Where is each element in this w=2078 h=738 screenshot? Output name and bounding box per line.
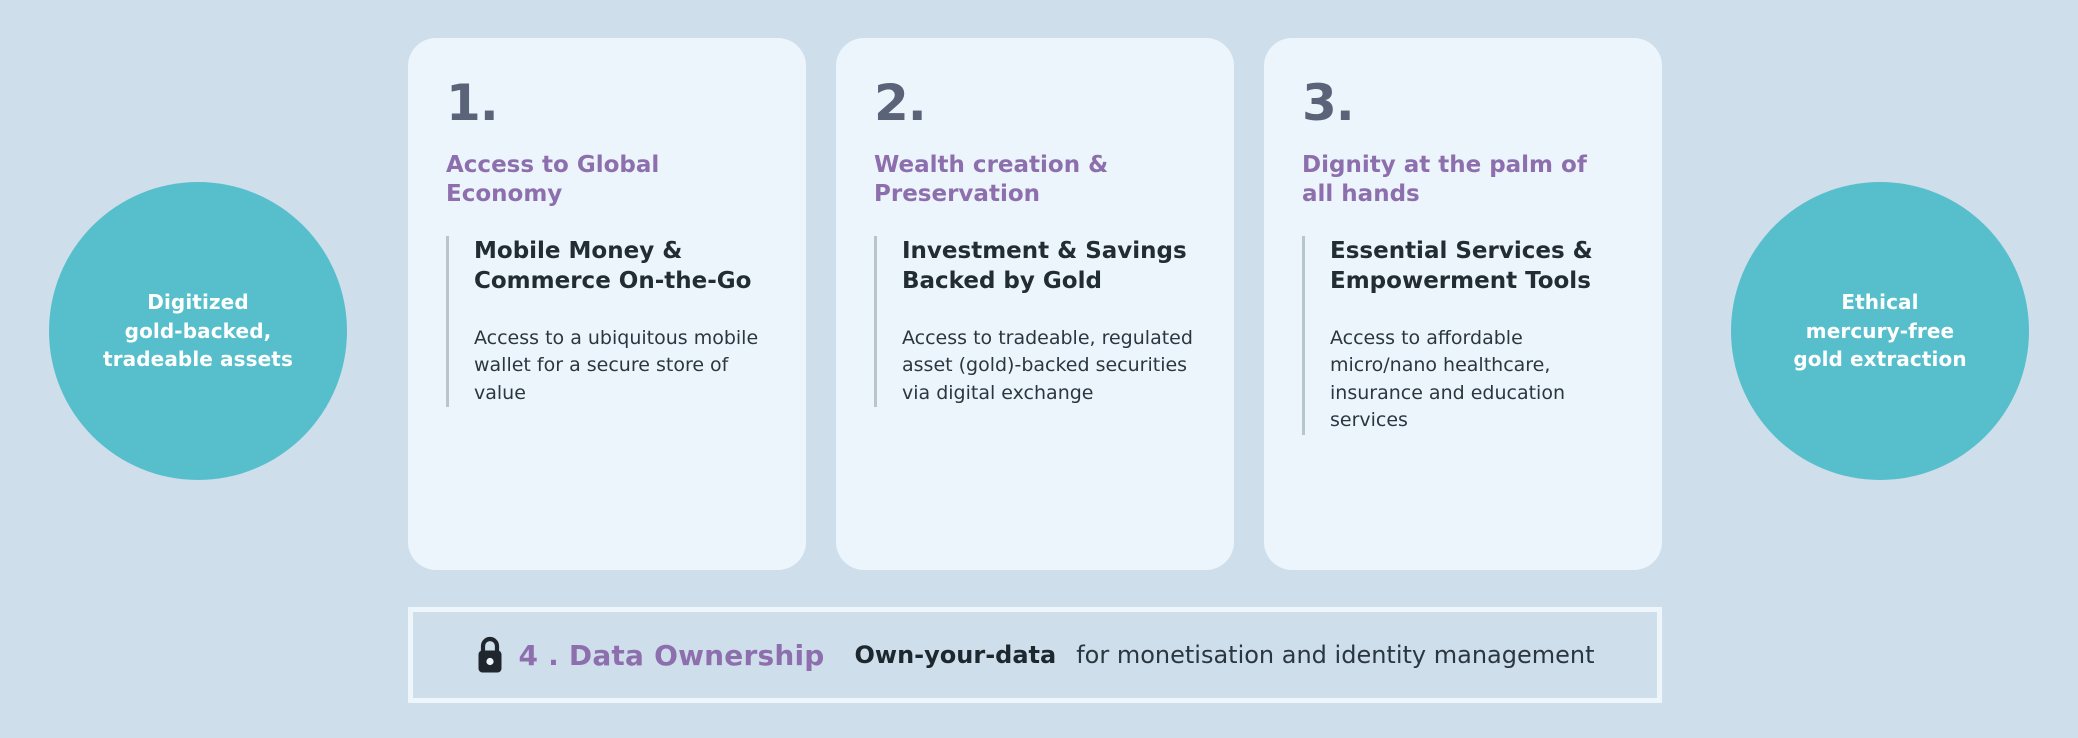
card-3-detail: Essential Services & Empowerment Tools A… — [1302, 236, 1624, 435]
teal-circle-left-label: Digitized gold-backed, tradeable assets — [103, 288, 293, 373]
banner-bold-text: Own-your-data — [855, 641, 1057, 669]
cards-row: 1. Access to Global Economy Mobile Money… — [408, 38, 1662, 570]
card-3-detail-heading: Essential Services & Empowerment Tools — [1330, 236, 1624, 297]
card-3-detail-body: Access to affordable micro/nano healthca… — [1330, 325, 1624, 435]
card-1-subtitle: Access to Global Economy — [446, 151, 768, 210]
lock-icon — [475, 636, 505, 674]
card-2-detail-body: Access to tradeable, regulated asset (go… — [902, 325, 1196, 408]
card-2-detail-heading: Investment & Savings Backed by Gold — [902, 236, 1196, 297]
card-1-detail-heading: Mobile Money & Commerce On-the-Go — [474, 236, 768, 297]
teal-circle-left: Digitized gold-backed, tradeable assets — [49, 182, 347, 480]
card-2[interactable]: 2. Wealth creation & Preservation Invest… — [836, 38, 1234, 570]
banner-rest-text: for monetisation and identity management — [1076, 641, 1594, 669]
teal-circle-right: Ethical mercury-free gold extraction — [1731, 182, 2029, 480]
card-2-detail: Investment & Savings Backed by Gold Acce… — [874, 236, 1196, 407]
card-2-subtitle: Wealth creation & Preservation — [874, 151, 1196, 210]
card-1-number: 1. — [446, 78, 768, 128]
card-3[interactable]: 3. Dignity at the palm of all hands Esse… — [1264, 38, 1662, 570]
banner-number-label: 4 . Data Ownership — [518, 639, 824, 672]
card-1-detail-body: Access to a ubiquitous mobile wallet for… — [474, 325, 768, 408]
card-1-detail: Mobile Money & Commerce On-the-Go Access… — [446, 236, 768, 407]
teal-circle-right-label: Ethical mercury-free gold extraction — [1793, 288, 1966, 373]
card-2-number: 2. — [874, 78, 1196, 128]
data-ownership-banner[interactable]: 4 . Data Ownership Own-your-data for mon… — [408, 607, 1662, 703]
card-3-subtitle: Dignity at the palm of all hands — [1302, 151, 1624, 210]
card-1[interactable]: 1. Access to Global Economy Mobile Money… — [408, 38, 806, 570]
card-3-number: 3. — [1302, 78, 1624, 128]
